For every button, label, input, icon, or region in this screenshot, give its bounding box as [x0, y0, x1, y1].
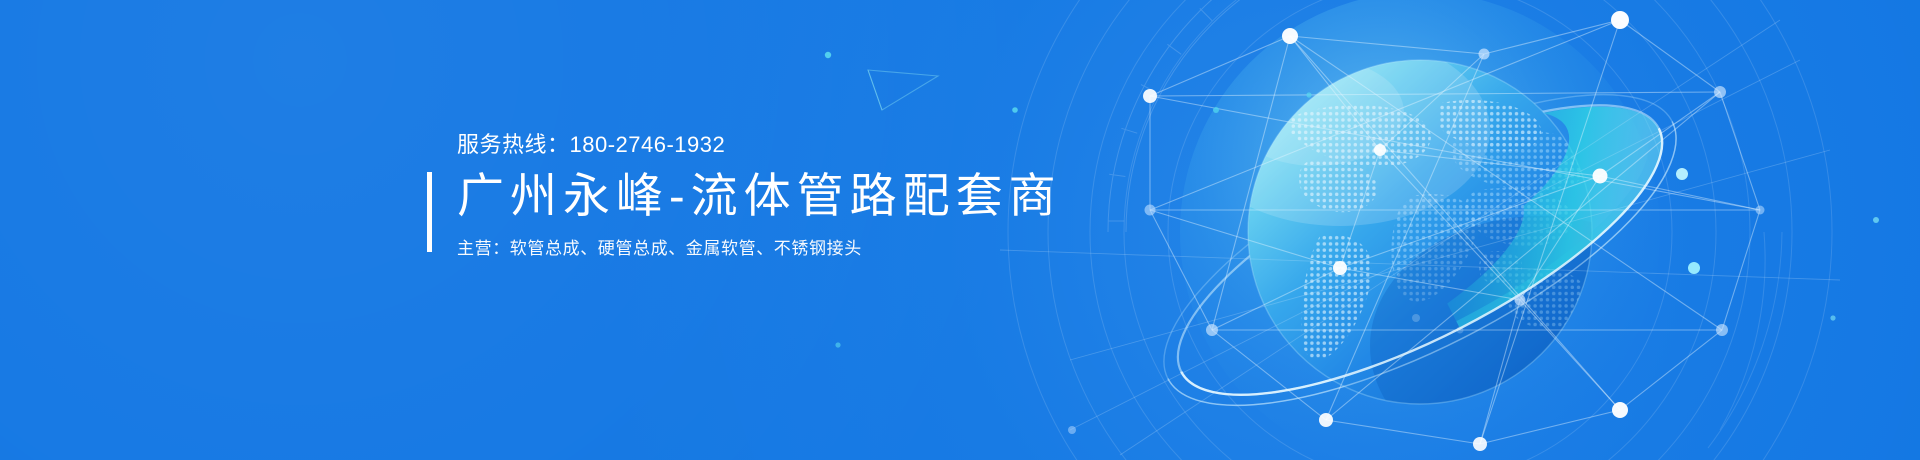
network-nodes [1068, 11, 1765, 451]
orbit-ring-front [1138, 63, 1717, 460]
banner-text-block: 服务热线：180-2746-1932 广州永峰-流体管路配套商 主营：软管总成、… [427, 130, 1062, 262]
banner-subtitle: 主营：软管总成、硬管总成、金属软管、不锈钢接头 [457, 236, 1062, 262]
promo-banner: 服务热线：180-2746-1932 广州永峰-流体管路配套商 主营：软管总成、… [0, 0, 1920, 460]
service-hotline: 服务热线：180-2746-1932 [457, 130, 1062, 160]
text-content: 服务热线：180-2746-1932 广州永峰-流体管路配套商 主营：软管总成、… [432, 130, 1062, 262]
banner-title: 广州永峰-流体管路配套商 [457, 166, 1062, 226]
network-links [1150, 20, 1760, 444]
globe-glow [1180, 0, 1660, 460]
globe-sphere [1190, 34, 1710, 460]
globe-dot-landmass [1190, 34, 1710, 460]
orbit-ring-back [1123, 34, 1716, 460]
network-long-lines [1000, 20, 1840, 455]
radar-tick-band [1108, 0, 1420, 232]
radar-arc-grid [1008, 0, 1832, 460]
radar-tick-band-2 [1708, 232, 1782, 448]
wireframe-triangle [868, 70, 938, 110]
